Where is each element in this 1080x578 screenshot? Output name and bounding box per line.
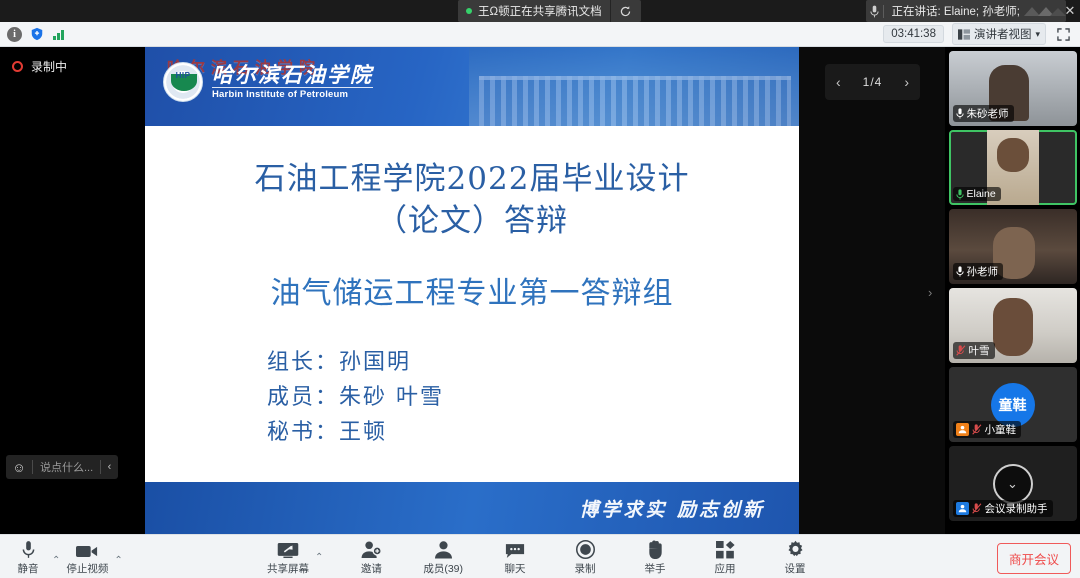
app-status-bar: i 03:41:38 演讲者视图 ▾ [0,22,1080,47]
share-notice-text: 王Ω顿正在共享腾讯文档 [478,3,610,19]
view-mode-selector[interactable]: 演讲者视图 ▾ [952,23,1046,45]
participant-label: 孙老师 [953,263,1004,280]
participants-label: 成员(39) [423,561,463,576]
participant-tile[interactable]: ⌄ 会议录制助手 [949,446,1077,521]
apps-button[interactable]: 应用 [703,539,747,576]
university-logo: HIP 哈尔滨石油学院 Harbin Institute of Petroleu… [163,62,373,102]
invite-button[interactable]: 邀请 [349,539,393,576]
participant-label: Elaine [953,187,1001,201]
raise-hand-label: 举手 [645,561,666,576]
participant-tile-active[interactable]: Elaine [949,130,1077,205]
slide-title-line-2: （论文）答辩 [145,200,799,242]
raise-hand-button[interactable]: 举手 [633,539,677,576]
chevron-down-icon: ▾ [1035,29,1040,40]
share-screen-label: 共享屏幕 [267,561,309,576]
participant-label: 叶雪 [953,342,995,359]
apps-label: 应用 [715,561,736,576]
host-badge-icon [956,423,969,436]
microphone-icon [956,108,964,119]
share-options-caret[interactable]: ⌃ [315,552,323,576]
slide-body: 石油工程学院2022届毕业设计 （论文）答辩 油气储运工程专业第一答辩组 组长：… [145,126,799,456]
record-button[interactable]: 录制 [563,539,607,576]
system-top-bar: 王Ω顿正在共享腾讯文档 正在讲话: Elaine; 孙老师; ✕ [0,0,1080,22]
microphone-icon [956,266,964,277]
avatar: 童鞋 [991,383,1035,427]
microphone-muted-icon [956,345,966,356]
signal-strength-icon[interactable] [51,29,66,40]
refresh-icon[interactable] [611,0,641,22]
recording-label: 录制中 [31,58,67,75]
quick-chat-bar[interactable]: ☺ 说点什么... ‹ [6,455,118,479]
logo-chinese-name: 哈尔滨石油学院 [212,64,373,86]
record-icon [576,539,595,559]
participant-tile[interactable]: 朱砂老师 [949,51,1077,126]
slide-gutter: ‹ 1/4 › › [799,47,945,534]
record-dot-icon [12,61,23,72]
slide-title-line-1: 石油工程学院2022届毕业设计 [145,158,799,200]
left-dark-panel: 录制中 ☺ 说点什么... ‹ [0,47,145,534]
user-badge-icon [956,502,969,515]
shared-slide-content[interactable]: 哈尔滨石油学院 HIP 哈尔滨石油学院 Harbin Institute of … [145,47,799,534]
chevron-left-icon[interactable]: ‹ [836,74,841,90]
smiley-icon[interactable]: ☺ [6,460,32,475]
participant-label: 朱砂老师 [953,105,1014,122]
page-indicator: 1/4 [863,75,883,89]
end-meeting-button[interactable]: 商开会议 [997,543,1071,574]
participant-name: 叶雪 [969,343,990,358]
logo-seal-text: HIP [164,71,202,80]
invite-person-icon [361,539,382,559]
slide-header-banner: 哈尔滨石油学院 HIP 哈尔滨石油学院 Harbin Institute of … [145,47,799,126]
view-mode-label: 演讲者视图 [974,26,1032,42]
participant-name: 朱砂老师 [967,106,1009,121]
raise-hand-icon [647,539,664,559]
participants-icon [434,539,453,559]
microphone-icon [866,5,883,18]
shield-icon[interactable] [29,27,44,42]
recording-indicator[interactable]: 录制中 [12,58,67,75]
roster-line: 秘书：王顿 [267,416,799,451]
slide-pager[interactable]: ‹ 1/4 › [825,64,920,100]
record-label: 录制 [575,561,596,576]
fullscreen-icon[interactable] [1054,26,1072,42]
settings-button[interactable]: 设置 [773,539,817,576]
participant-video-strip[interactable]: 朱砂老师 Elaine 孙老师 [945,47,1080,534]
participant-label: 会议录制助手 [953,500,1053,517]
share-screen-icon [277,539,299,559]
microphone-muted-icon [972,424,982,435]
chat-icon [505,539,525,559]
speaking-indicator[interactable]: 正在讲话: Elaine; 孙老师; [866,0,1066,22]
participant-name: 小童鞋 [985,422,1017,437]
share-notice-pill[interactable]: 王Ω顿正在共享腾讯文档 [458,0,641,22]
slide-footer-banner: 博学求实 励志创新 [145,482,799,534]
collapse-panel-icon[interactable]: › [928,285,932,300]
chat-button[interactable]: 聊天 [493,539,537,576]
slide-subtitle: 油气储运工程专业第一答辩组 [145,268,799,312]
roster-line: 成员：朱砂 叶雪 [267,381,799,416]
share-status-dot [466,8,472,14]
slide-motto: 博学求实 励志创新 [579,495,765,522]
microphone-icon [956,189,964,200]
roster-line: 组长：孙国明 [267,346,799,381]
participant-name: 孙老师 [967,264,999,279]
info-icon[interactable]: i [7,27,22,42]
participant-tile[interactable]: 童鞋 小童鞋 [949,367,1077,442]
settings-label: 设置 [785,561,806,576]
meeting-window: 王Ω顿正在共享腾讯文档 正在讲话: Elaine; 孙老师; ✕ i [0,0,1080,578]
participants-button[interactable]: 成员(39) [419,539,467,576]
chevron-right-icon[interactable]: › [904,74,909,90]
gear-icon [786,539,805,559]
campus-building-photo [469,47,799,126]
microphone-muted-icon [972,503,982,514]
bottom-toolbar: 静音 ⌃ 停止视频 ⌃ 共享屏幕 ⌃ [0,534,1080,578]
participant-label: 小童鞋 [953,421,1022,438]
chat-label: 聊天 [505,561,526,576]
participant-tile[interactable]: 叶雪 [949,288,1077,363]
participant-name: Elaine [967,188,996,200]
invite-label: 邀请 [361,561,382,576]
camera-off-icon: ⌄ [993,464,1033,504]
logo-english-name: Harbin Institute of Petroleum [212,87,373,100]
meeting-timer: 03:41:38 [883,25,944,43]
slide-roster: 组长：孙国明 成员：朱砂 叶雪 秘书：王顿 [145,346,799,450]
participant-name: 会议录制助手 [985,501,1048,516]
speaking-label: 正在讲话: Elaine; 孙老师; [884,3,1020,19]
logo-seal-icon: HIP [163,62,203,102]
apps-icon [716,539,735,559]
close-icon[interactable]: ✕ [1060,0,1080,22]
layout-icon [958,29,970,40]
share-screen-button[interactable]: 共享屏幕 [263,539,313,576]
collapse-chat-icon[interactable]: ‹ [101,461,118,473]
quick-chat-placeholder[interactable]: 说点什么... [33,459,100,475]
participant-tile[interactable]: 孙老师 [949,209,1077,284]
